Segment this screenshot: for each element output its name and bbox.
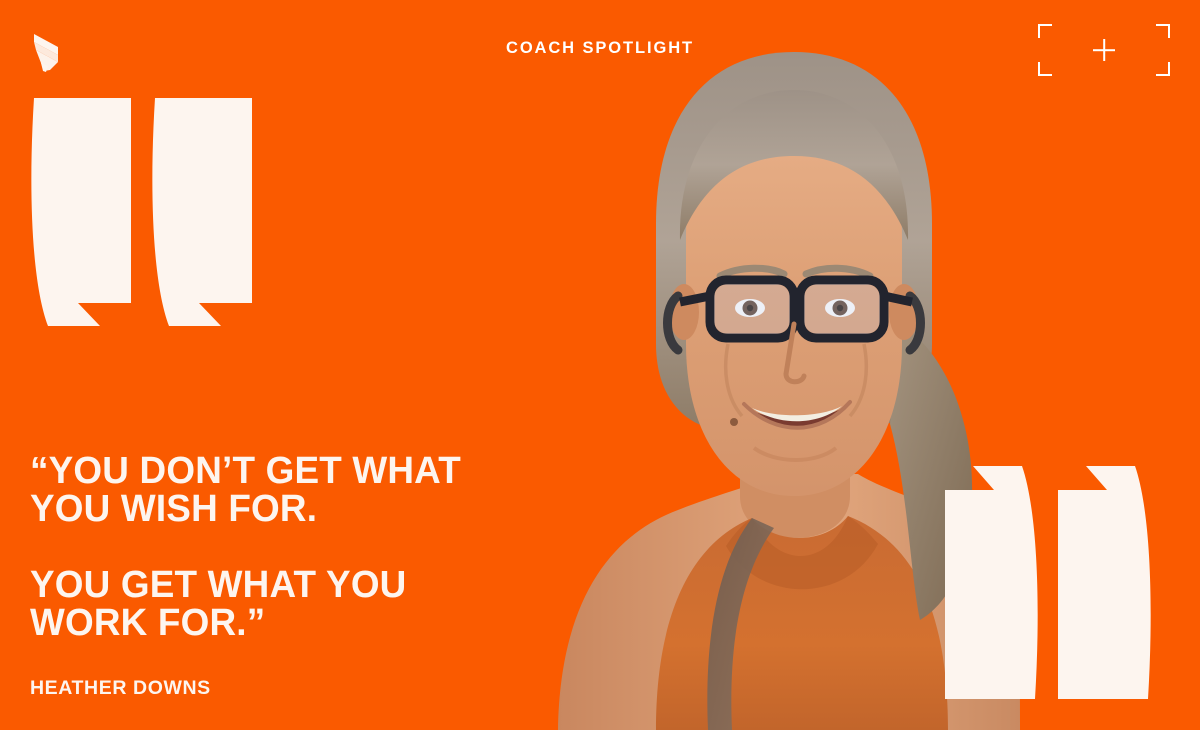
- viewfinder-corner-top-right-icon: [1156, 24, 1170, 38]
- open-quote-mark: [30, 98, 252, 326]
- page-eyebrow-title: COACH SPOTLIGHT: [0, 39, 1200, 58]
- close-quote-mark: [945, 466, 1152, 699]
- quote-line-2: YOU GET WHAT YOU WORK FOR.”: [30, 566, 515, 642]
- quote-line-1: “YOU DON’T GET WHAT YOU WISH FOR.: [30, 452, 515, 528]
- header-bar: COACH SPOTLIGHT: [0, 0, 1200, 100]
- quote-attribution-name: HEATHER DOWNS: [30, 677, 211, 700]
- viewfinder-corner-bottom-left-icon: [1038, 62, 1052, 76]
- viewfinder-corner-bottom-right-icon: [1156, 62, 1170, 76]
- viewfinder-corner-top-left-icon: [1038, 24, 1052, 38]
- coach-spotlight-card: COACH SPOTLIGHT: [0, 0, 1200, 730]
- quote-text-block: “YOU DON’T GET WHAT YOU WISH FOR. YOU GE…: [30, 452, 530, 642]
- plus-icon[interactable]: [1093, 39, 1115, 61]
- viewfinder-frame-icon[interactable]: [1038, 24, 1170, 76]
